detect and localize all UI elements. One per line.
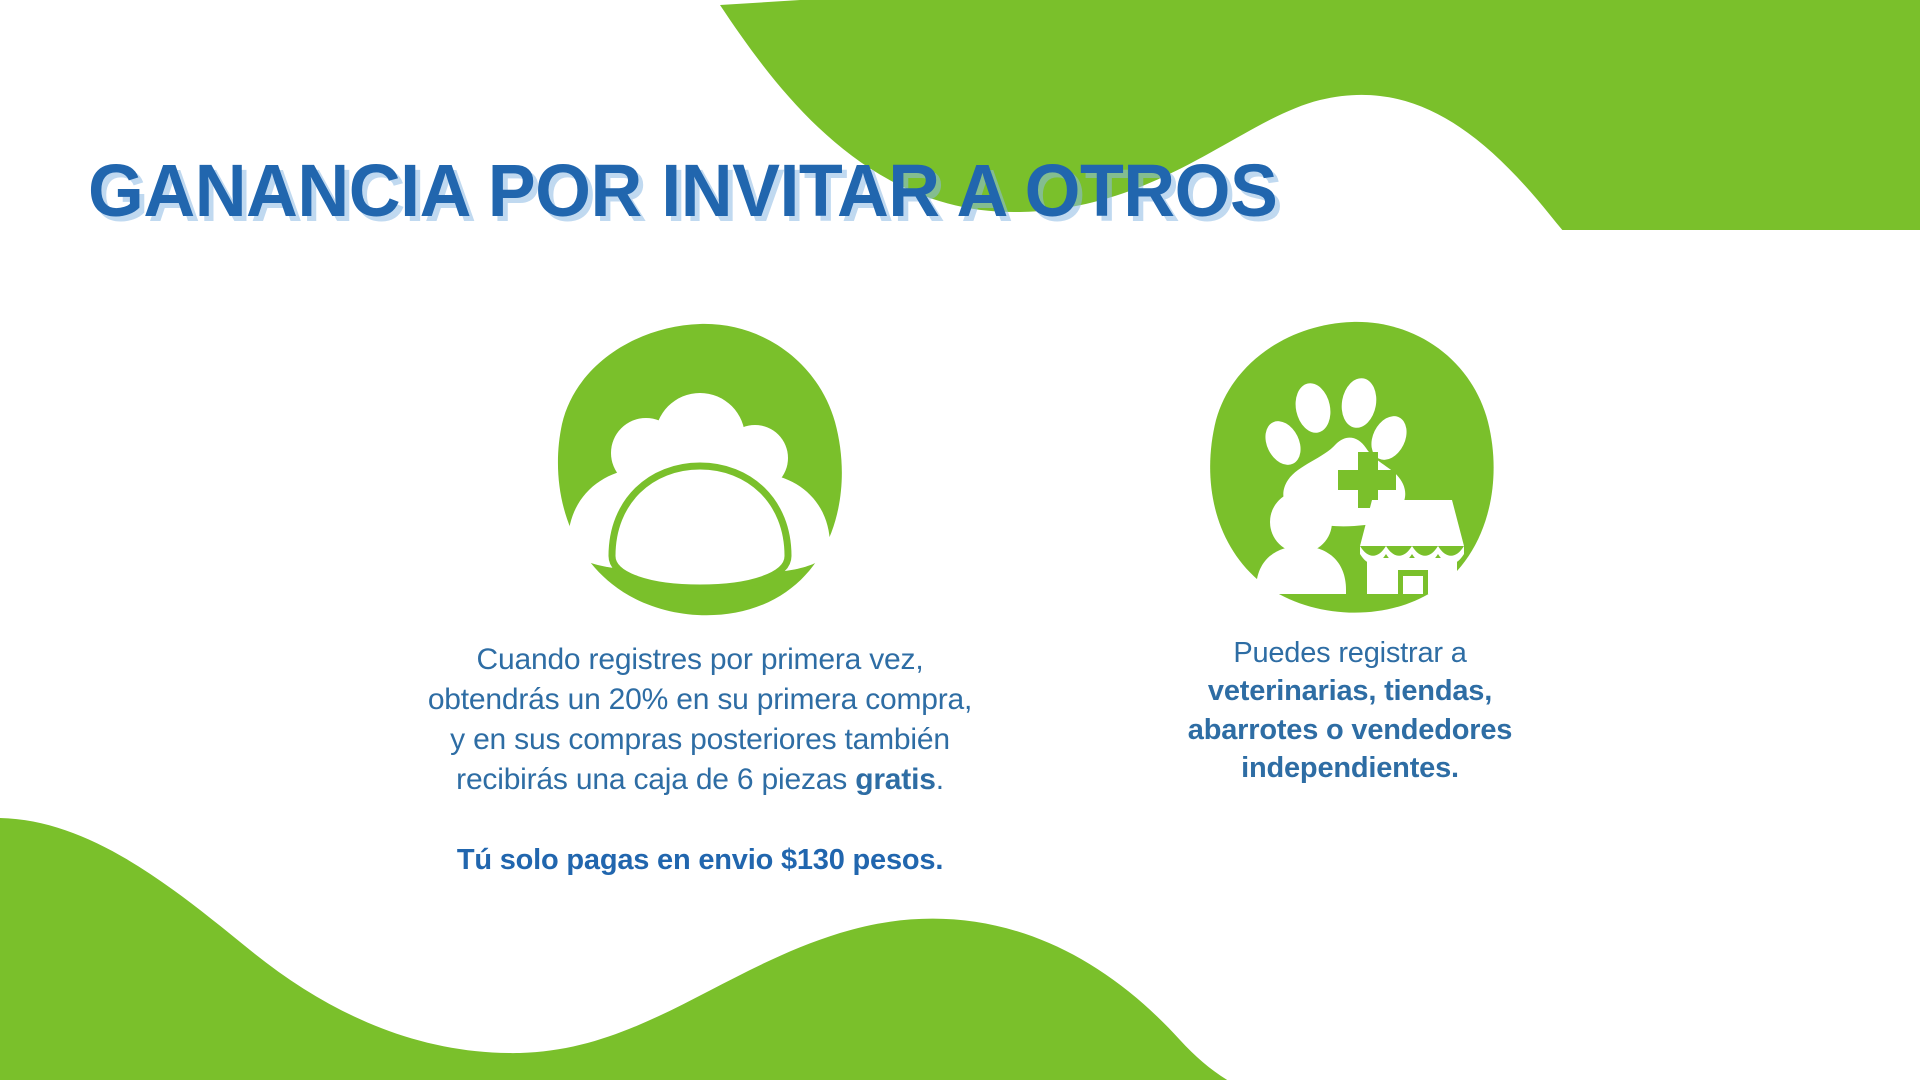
register-bold-line: abarrotes o vendedores xyxy=(1115,711,1585,749)
register-bold-text: abarrotes o vendedores xyxy=(1188,714,1512,746)
register-bold-line: veterinarias, tiendas, xyxy=(1115,672,1585,710)
paragraph-line: obtendrás un 20% en su primera compra, xyxy=(330,680,1070,720)
column-register-businesses: Puedes registrar a veterinarias, tiendas… xyxy=(1115,318,1585,787)
invite-paragraph: Cuando registres por primera vez, obtend… xyxy=(330,640,1070,800)
page-title: GANANCIA POR INVITAR A OTROS xyxy=(88,148,1277,233)
gratis-emphasis: gratis xyxy=(855,763,936,796)
vet-shop-paw-icon xyxy=(1115,318,1585,618)
register-bold-text: independientes. xyxy=(1241,752,1459,784)
register-paragraph: Puedes registrar a veterinarias, tiendas… xyxy=(1115,634,1585,787)
paragraph-period: . xyxy=(936,763,944,796)
paragraph-line: y en sus compras posteriores también xyxy=(330,720,1070,760)
paragraph-line-last: recibirás una caja de 6 piezas gratis. xyxy=(330,760,1070,800)
register-bold-text: veterinarias, tiendas, xyxy=(1208,675,1492,707)
column-invite-friends: Cuando registres por primera vez, obtend… xyxy=(330,318,1070,877)
paragraph-line: Cuando registres por primera vez, xyxy=(330,640,1070,680)
register-lead-line: Puedes registrar a xyxy=(1115,634,1585,672)
shipping-price-note: Tú solo pagas en envio $130 pesos. xyxy=(330,844,1070,877)
group-people-icon xyxy=(330,318,1070,618)
paragraph-line-text: recibirás una caja de 6 piezas xyxy=(456,763,855,796)
slide-canvas: GANANCIA POR INVITAR A OTROS C xyxy=(0,0,1920,1080)
register-bold-line: independientes. xyxy=(1115,749,1585,787)
